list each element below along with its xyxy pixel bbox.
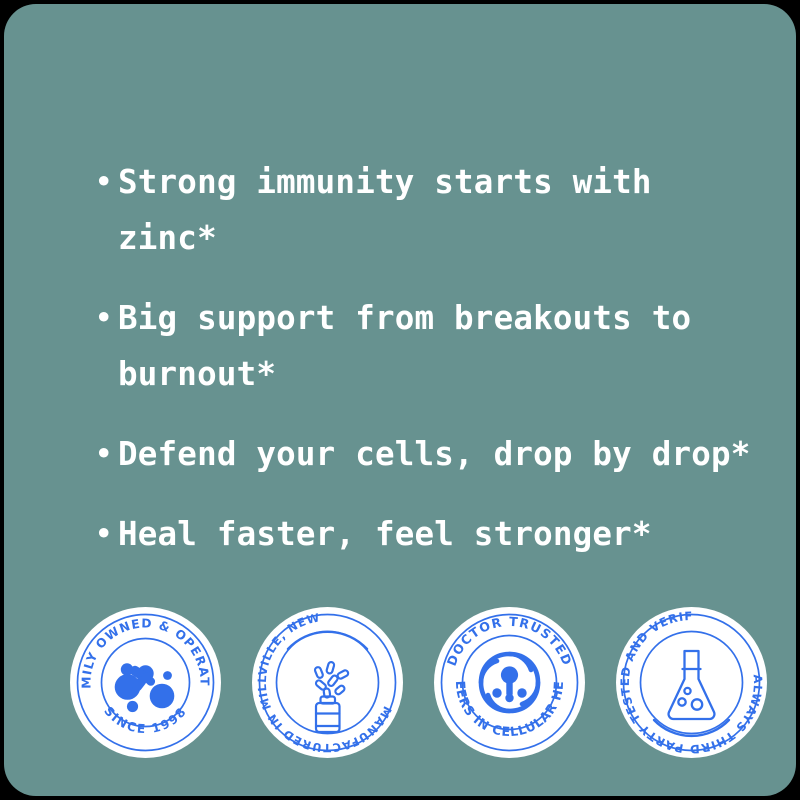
doctor-trusted-badge: DOCTOR TRUSTED PIONEERS IN CELLULAR HEAL…: [434, 607, 585, 758]
list-item: • Strong immunity starts with zinc*: [94, 154, 774, 266]
list-item-label: Heal faster, feel stronger*: [118, 506, 774, 562]
list-item-label: Strong immunity starts with zinc*: [118, 154, 774, 266]
bullet-marker-icon: •: [94, 290, 118, 346]
list-item-label: Defend your cells, drop by drop*: [118, 426, 774, 482]
benefits-list: • Strong immunity starts with zinc* • Bi…: [94, 154, 774, 586]
bullet-marker-icon: •: [94, 154, 118, 210]
product-benefits-card: • Strong immunity starts with zinc* • Bi…: [4, 4, 796, 796]
list-item: • Big support from breakouts to burnout*: [94, 290, 774, 402]
bullet-marker-icon: •: [94, 426, 118, 482]
list-item-label: Big support from breakouts to burnout*: [118, 290, 774, 402]
third-party-tested-badge: ALWAYS THIRD PARTY TESTED AND VERIFIED: [616, 607, 767, 758]
list-item: • Defend your cells, drop by drop*: [94, 426, 774, 482]
bullet-marker-icon: •: [94, 506, 118, 562]
manufactured-badge: MANUFACTURED IN MILLVILLE, NEW JERSEY: [252, 607, 403, 758]
trust-badge-row: FAMILY OWNED & OPERATED SINCE 1998: [70, 606, 760, 758]
family-owned-badge: FAMILY OWNED & OPERATED SINCE 1998: [70, 607, 221, 758]
list-item: • Heal faster, feel stronger*: [94, 506, 774, 562]
